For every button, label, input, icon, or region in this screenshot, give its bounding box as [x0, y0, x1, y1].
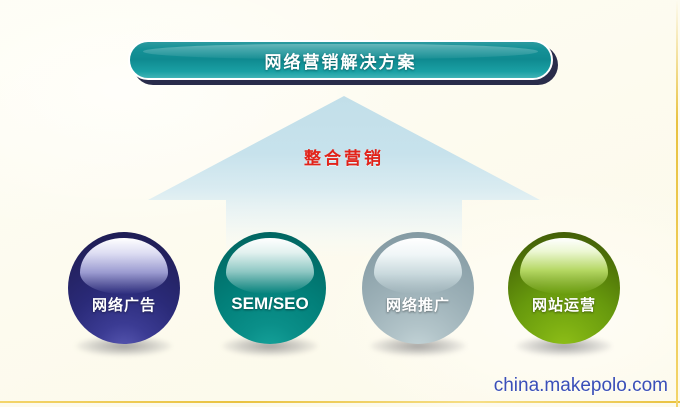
sphere-body	[68, 232, 180, 344]
watermark: china.makepolo.com	[494, 375, 668, 397]
sphere-gloss-highlight	[374, 238, 461, 294]
arrow-shape	[148, 96, 540, 256]
sphere-item-sem-seo[interactable]: SEM/SEO	[214, 232, 326, 362]
sphere-body	[362, 232, 474, 344]
sphere-body	[214, 232, 326, 344]
sphere-label: 网络广告	[68, 294, 180, 315]
sphere-item-wangzhan-yunying[interactable]: 网站运营	[508, 232, 620, 362]
sphere-gloss-highlight	[226, 238, 313, 294]
title-banner: 网络营销解决方案	[128, 40, 553, 80]
sphere-label: SEM/SEO	[214, 294, 326, 314]
sphere-label: 网络推广	[362, 294, 474, 315]
frame-border-right	[676, 0, 678, 407]
sphere-gloss-highlight	[80, 238, 167, 294]
frame-border-bottom	[0, 401, 680, 403]
sphere-item-wangluo-guanggao[interactable]: 网络广告	[68, 232, 180, 362]
slide-canvas: 整合营销 网络营销解决方案 网络广告 SEM/SEO 网络推广	[0, 0, 680, 407]
sphere-gloss-highlight	[520, 238, 607, 294]
arrow-label: 整合营销	[148, 144, 540, 169]
sphere-item-wangluo-tuiguang[interactable]: 网络推广	[362, 232, 474, 362]
banner-body: 网络营销解决方案	[128, 40, 553, 80]
sphere-label: 网站运营	[508, 294, 620, 315]
sphere-body	[508, 232, 620, 344]
integration-arrow: 整合营销	[148, 96, 540, 256]
page-title: 网络营销解决方案	[265, 48, 417, 73]
